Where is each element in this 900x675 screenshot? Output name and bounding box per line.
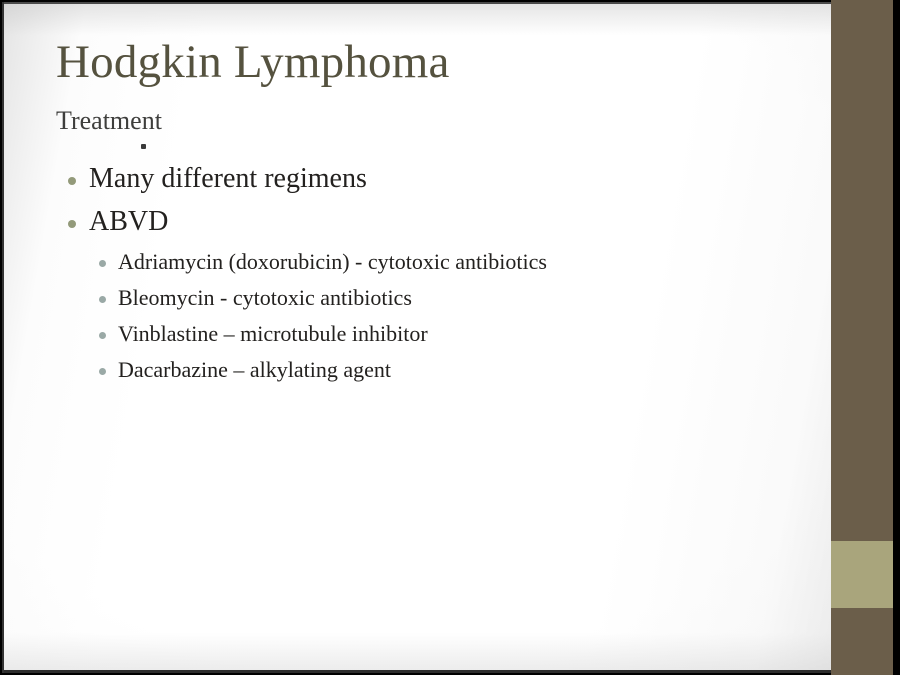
slide-content-area: Hodgkin Lymphoma Treatment Many differen…: [2, 2, 831, 673]
frame-left-edge: [2, 2, 4, 673]
round-bullet-olive-icon: [68, 177, 76, 185]
slide-title: Hodgkin Lymphoma: [56, 38, 450, 87]
bullet-text: Many different regimens: [89, 163, 367, 194]
bullet-item-level2: Vinblastine – microtubule inhibitor: [2, 323, 802, 345]
round-bullet-sage-icon: [99, 332, 106, 339]
bullet-text: Bleomycin - cytotoxic antibiotics: [118, 285, 412, 310]
round-bullet-sage-icon: [99, 296, 106, 303]
bullet-text: Dacarbazine – alkylating agent: [118, 357, 391, 382]
bullet-sublist: Adriamycin (doxorubicin) - cytotoxic ant…: [2, 251, 802, 381]
bullet-item-level1: Many different regimens: [2, 165, 802, 193]
bullet-item-level2: Bleomycin - cytotoxic antibiotics: [2, 287, 802, 309]
bullet-item-level1: ABVD: [2, 208, 802, 236]
bullet-item-level2: Adriamycin (doxorubicin) - cytotoxic ant…: [2, 251, 802, 273]
bullet-text: Adriamycin (doxorubicin) - cytotoxic ant…: [118, 249, 547, 274]
round-bullet-olive-icon: [68, 220, 76, 228]
cursor-artifact-dot: [141, 144, 146, 149]
right-accent-block: [831, 541, 893, 608]
bullet-text: Vinblastine – microtubule inhibitor: [118, 321, 428, 346]
frame-bottom-edge: [2, 670, 831, 673]
bullet-text: ABVD: [89, 206, 168, 237]
slide-canvas: Hodgkin Lymphoma Treatment Many differen…: [0, 0, 900, 675]
bullet-item-level2: Dacarbazine – alkylating agent: [2, 359, 802, 381]
round-bullet-sage-icon: [99, 368, 106, 375]
frame-right-edge: [893, 0, 900, 675]
round-bullet-sage-icon: [99, 260, 106, 267]
frame-top-edge: [2, 2, 831, 4]
slide-subtitle: Treatment: [56, 107, 162, 136]
bullet-list: Many different regimens ABVD Adriamycin …: [2, 165, 802, 395]
